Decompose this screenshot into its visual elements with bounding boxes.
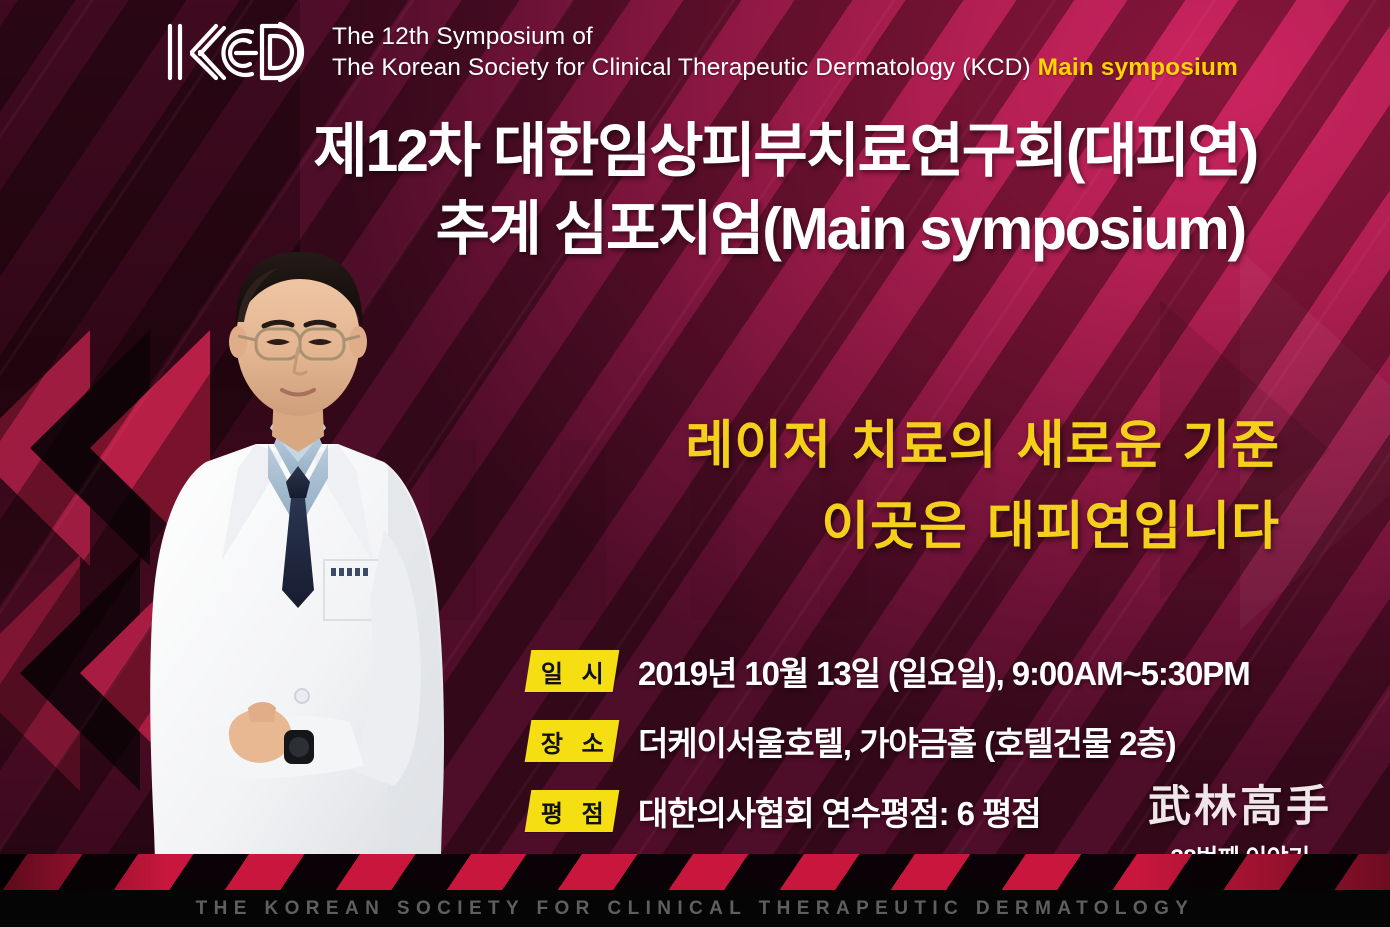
header-text: The 12th Symposium of The Korean Society…	[332, 21, 1238, 84]
title-line-1: 제12차 대한임상피부치료연구회(대피연)	[0, 112, 1275, 190]
header-line-2-prefix: The Korean Society for Clinical Therapeu…	[332, 54, 1031, 81]
page-title: 제12차 대한임상피부치료연구회(대피연) 추계 심포지엄(Main sympo…	[0, 112, 1275, 269]
header-main-symposium: Main symposium	[1038, 54, 1238, 81]
doctor-portrait	[88, 230, 508, 890]
tagline-line-1: 레이저 치료의 새로운 기준	[560, 406, 1280, 487]
title-line-2: 추계 심포지엄(Main symposium)	[0, 190, 1275, 268]
header-line-2: The Korean Society for Clinical Therapeu…	[332, 52, 1238, 83]
calligraphy-chinese: 武林高手	[1135, 786, 1345, 829]
info-value-credits: 대한의사협회 연수평점: 6 평점	[638, 787, 1040, 835]
info-row-venue: 장 소 더케이서울호텔, 가야금홀 (호텔건물 2층)	[528, 718, 1348, 764]
kcd-logo-icon	[160, 14, 310, 90]
tagline-line-2: 이곳은 대피연입니다	[560, 487, 1280, 568]
info-label-date-text: 일 시	[535, 654, 610, 689]
footer-banner-text: THE KOREAN SOCIETY FOR CLINICAL THERAPEU…	[196, 898, 1195, 920]
bottom-stripe-pattern	[0, 854, 1390, 890]
info-value-venue: 더케이서울호텔, 가야금홀 (호텔건물 2층)	[638, 717, 1175, 765]
header: The 12th Symposium of The Korean Society…	[160, 12, 1360, 92]
info-row-date: 일 시 2019년 10월 13일 (일요일), 9:00AM~5:30PM	[528, 648, 1348, 694]
info-label-date: 일 시	[525, 650, 620, 692]
info-value-date: 2019년 10월 13일 (일요일), 9:00AM~5:30PM	[638, 647, 1250, 695]
footer-banner: THE KOREAN SOCIETY FOR CLINICAL THERAPEU…	[0, 890, 1390, 927]
tagline: 레이저 치료의 새로운 기준 이곳은 대피연입니다	[560, 406, 1280, 567]
info-label-venue-text: 장 소	[535, 724, 610, 759]
info-label-venue: 장 소	[525, 720, 620, 762]
header-line-1: The 12th Symposium of	[332, 21, 1238, 52]
symposium-poster: The 12th Symposium of The Korean Society…	[0, 0, 1390, 927]
info-label-credits-text: 평 점	[535, 794, 610, 829]
info-label-credits: 평 점	[525, 790, 620, 832]
